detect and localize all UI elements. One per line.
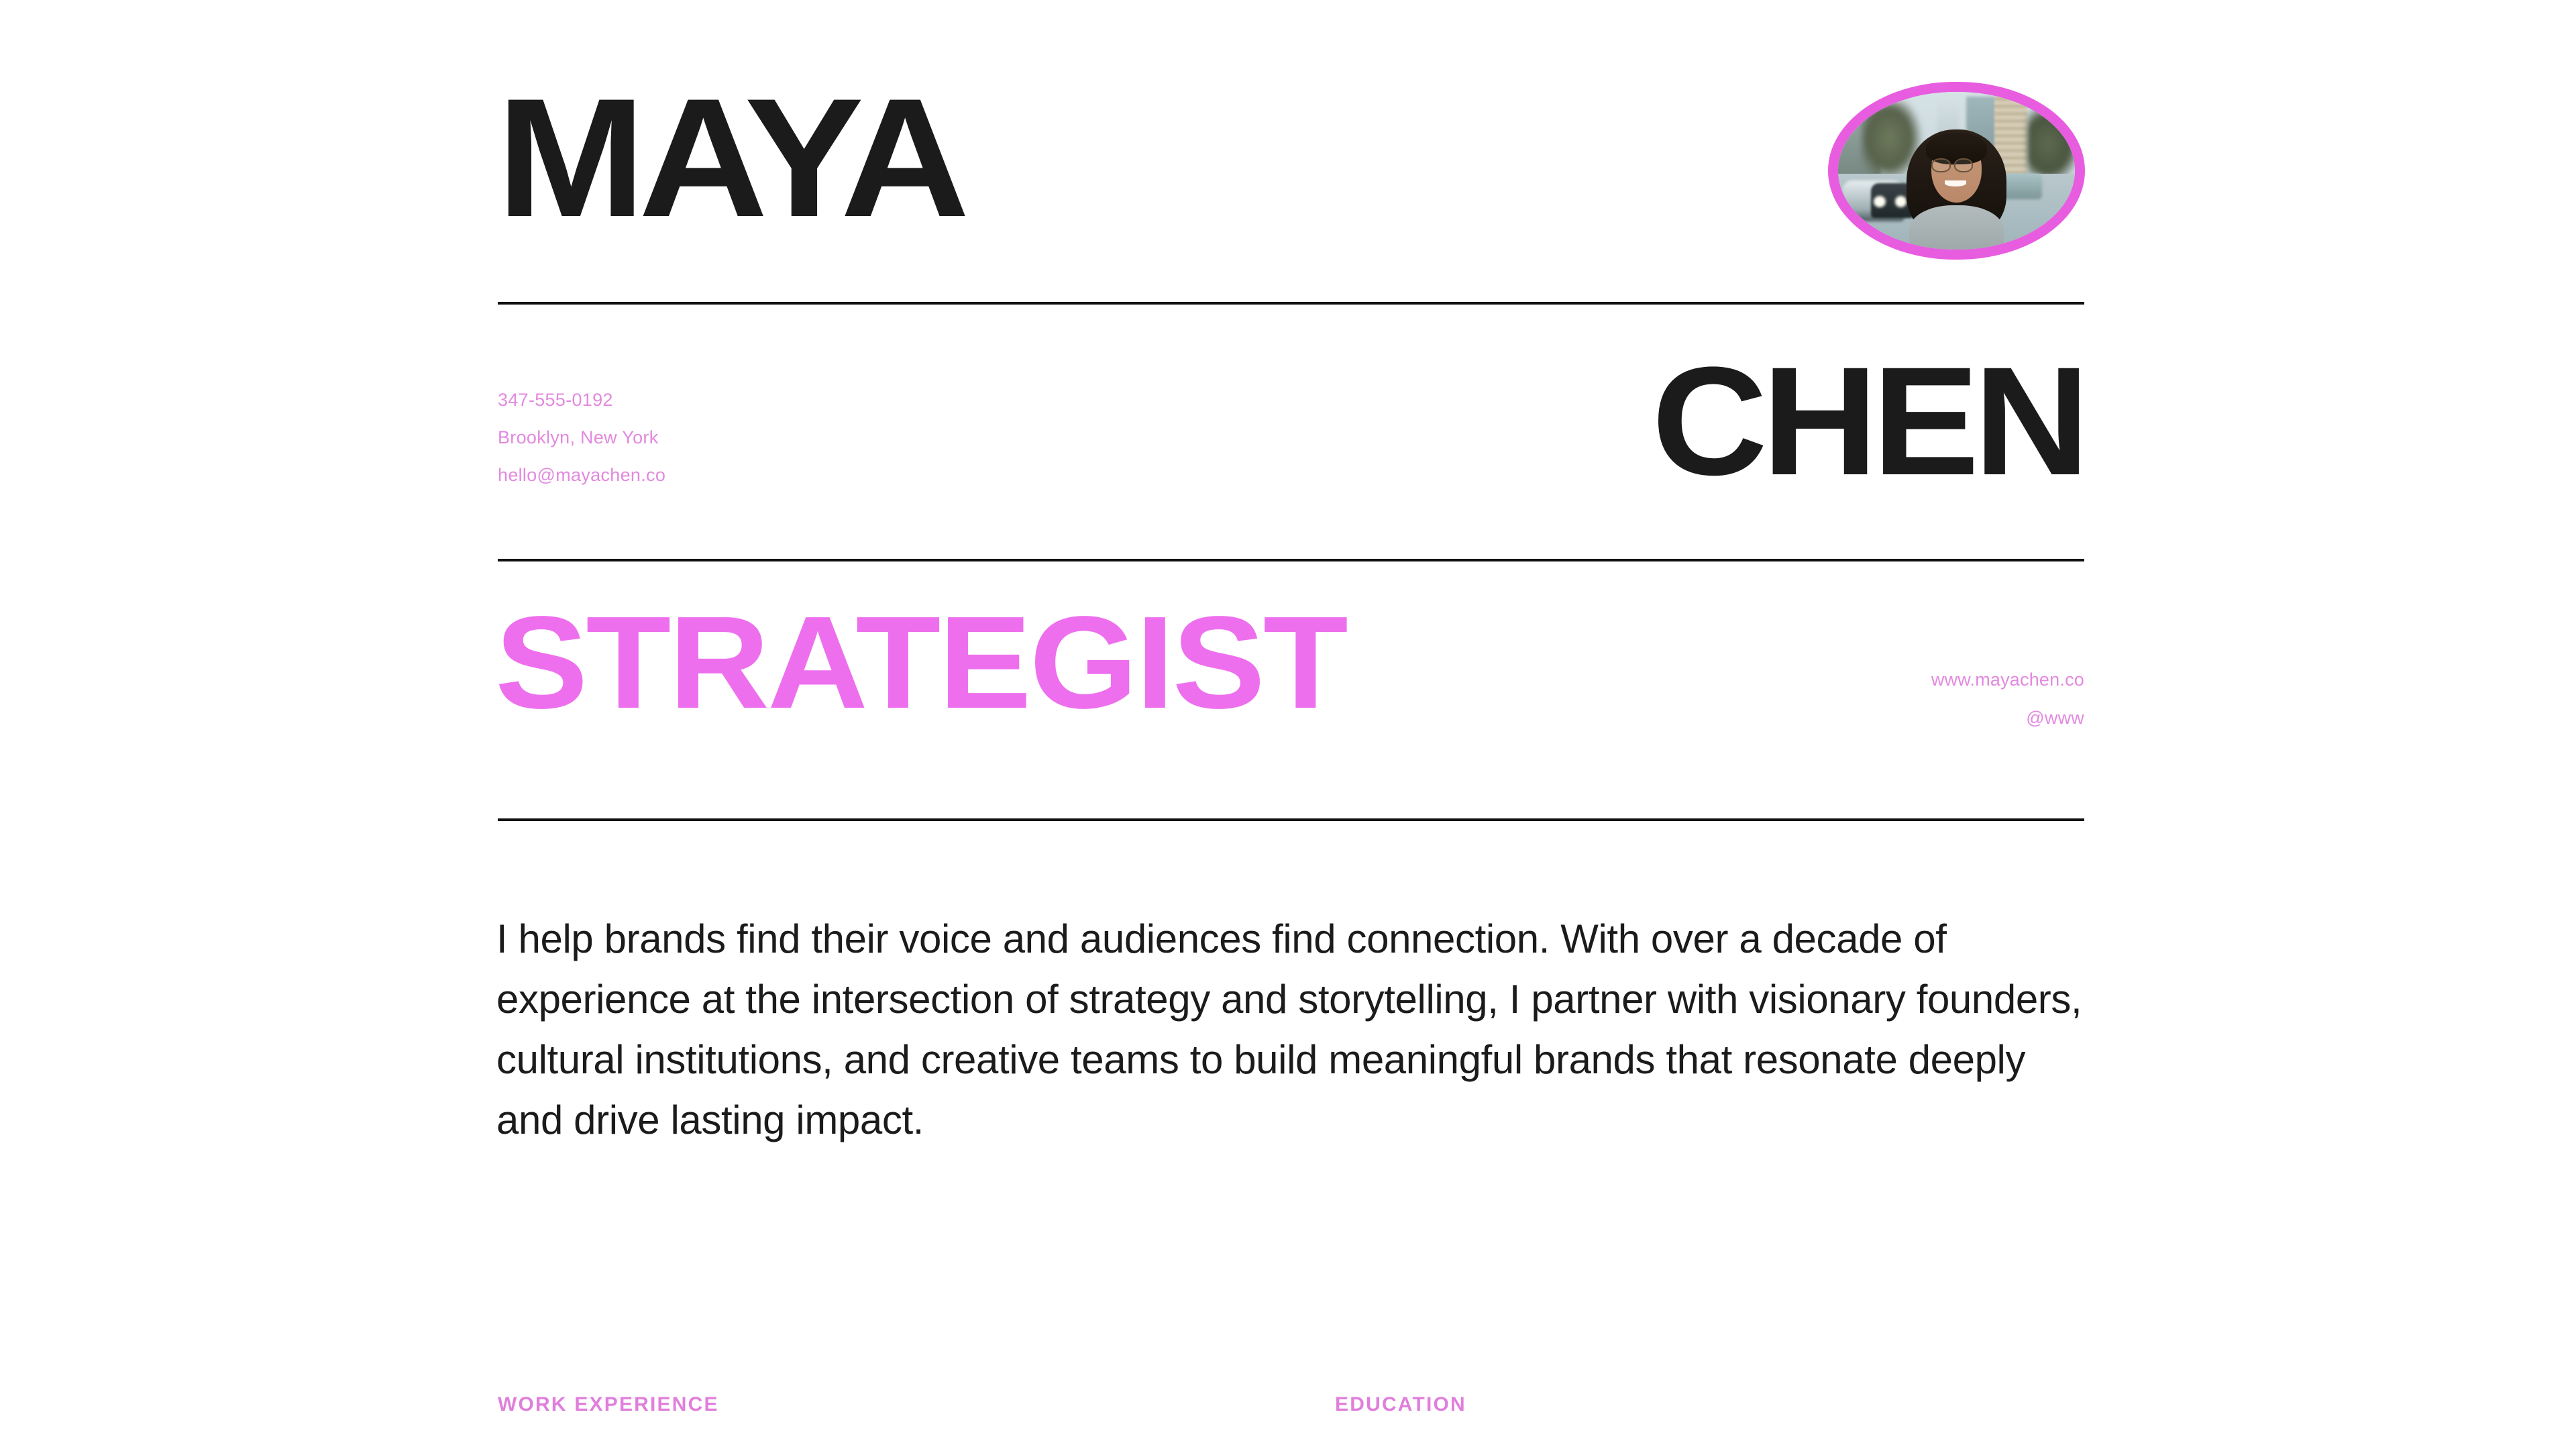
- role-title: STRATEGIST: [495, 597, 1346, 729]
- page-title-last-name: CHEN: [1652, 344, 2084, 498]
- photo-glasses-bridge: [1951, 164, 1955, 165]
- divider-top: [498, 302, 2084, 305]
- divider-bottom: [498, 818, 2084, 821]
- contact-phone[interactable]: 347-555-0192: [498, 381, 665, 419]
- contact-location: Brooklyn, New York: [498, 419, 665, 456]
- section-heading-work-experience: WORK EXPERIENCE: [498, 1393, 719, 1416]
- photo-portrait: [1838, 92, 2075, 250]
- photo-glasses-right: [1954, 158, 1973, 172]
- summary-paragraph: I help brands find their voice and audie…: [496, 909, 2093, 1150]
- divider-middle: [498, 559, 2084, 561]
- avatar: [1828, 82, 2085, 260]
- contact-list: 347-555-0192 Brooklyn, New York hello@ma…: [498, 381, 665, 494]
- contact-email[interactable]: hello@mayachen.co: [498, 456, 665, 494]
- link-handle[interactable]: @www: [1931, 699, 2084, 737]
- photo-torso: [1909, 205, 2004, 250]
- link-website[interactable]: www.mayachen.co: [1931, 661, 2084, 699]
- section-heading-education: EDUCATION: [1335, 1393, 1466, 1416]
- photo-glasses-left: [1931, 158, 1950, 172]
- photo-smile: [1945, 180, 1966, 186]
- avatar-photo: [1838, 92, 2075, 250]
- page-title-first-name: MAYA: [496, 74, 963, 243]
- link-list: www.mayachen.co @www: [1931, 661, 2084, 737]
- resume-page: MAYA: [0, 0, 2576, 1449]
